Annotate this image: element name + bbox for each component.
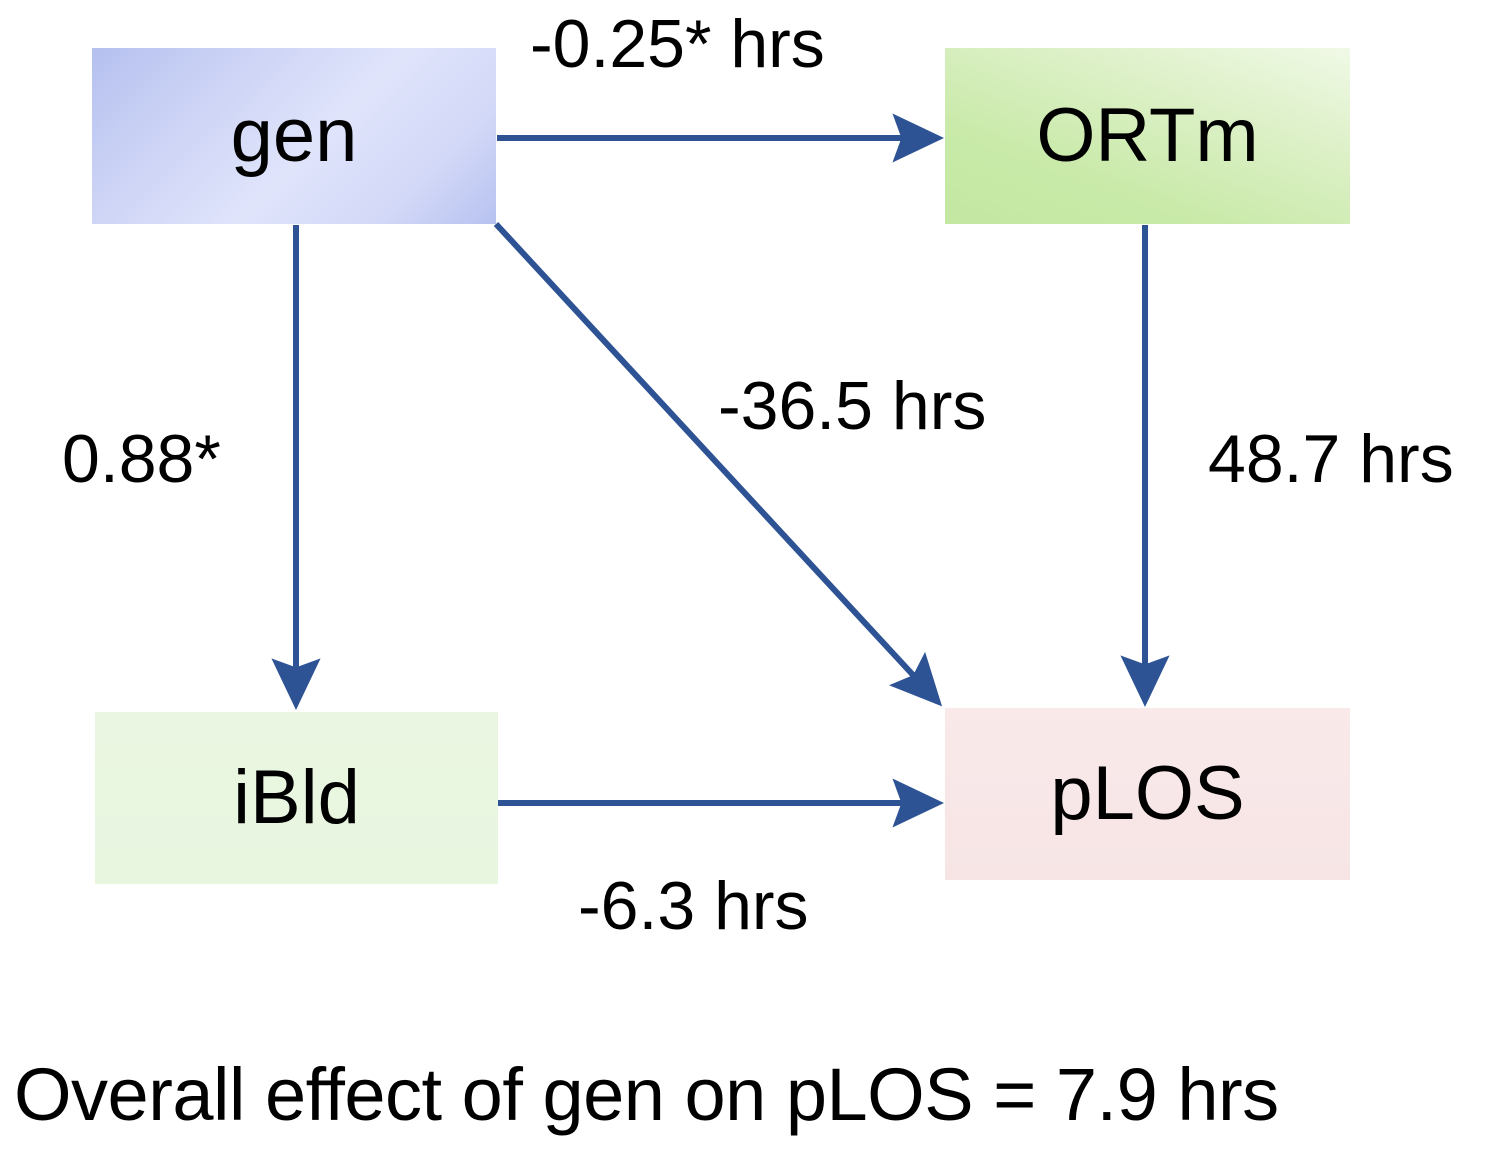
arrow-gen-to-plos [496,224,938,702]
node-ortm-label: ORTm [1036,98,1258,174]
node-plos-label: pLOS [1050,756,1244,832]
diagram-canvas: gen ORTm iBld pLOS -0.25* hrs 0.88* -36.… [0,0,1500,1152]
node-gen[interactable]: gen [92,48,496,224]
edge-label-ortm-to-plos: 48.7 hrs [1208,425,1454,493]
edge-label-gen-to-ibld: 0.88* [62,425,221,493]
node-ibld[interactable]: iBld [95,712,498,884]
node-ibld-label: iBld [233,760,360,836]
edge-label-gen-to-plos: -36.5 hrs [718,372,986,440]
overall-effect-caption: Overall effect of gen on pLOS = 7.9 hrs [14,1052,1279,1137]
node-ortm[interactable]: ORTm [945,48,1350,224]
node-gen-label: gen [231,98,358,174]
edge-label-ibld-to-plos: -6.3 hrs [578,872,809,940]
edge-label-gen-to-ortm: -0.25* hrs [530,10,825,78]
node-plos[interactable]: pLOS [945,708,1350,880]
